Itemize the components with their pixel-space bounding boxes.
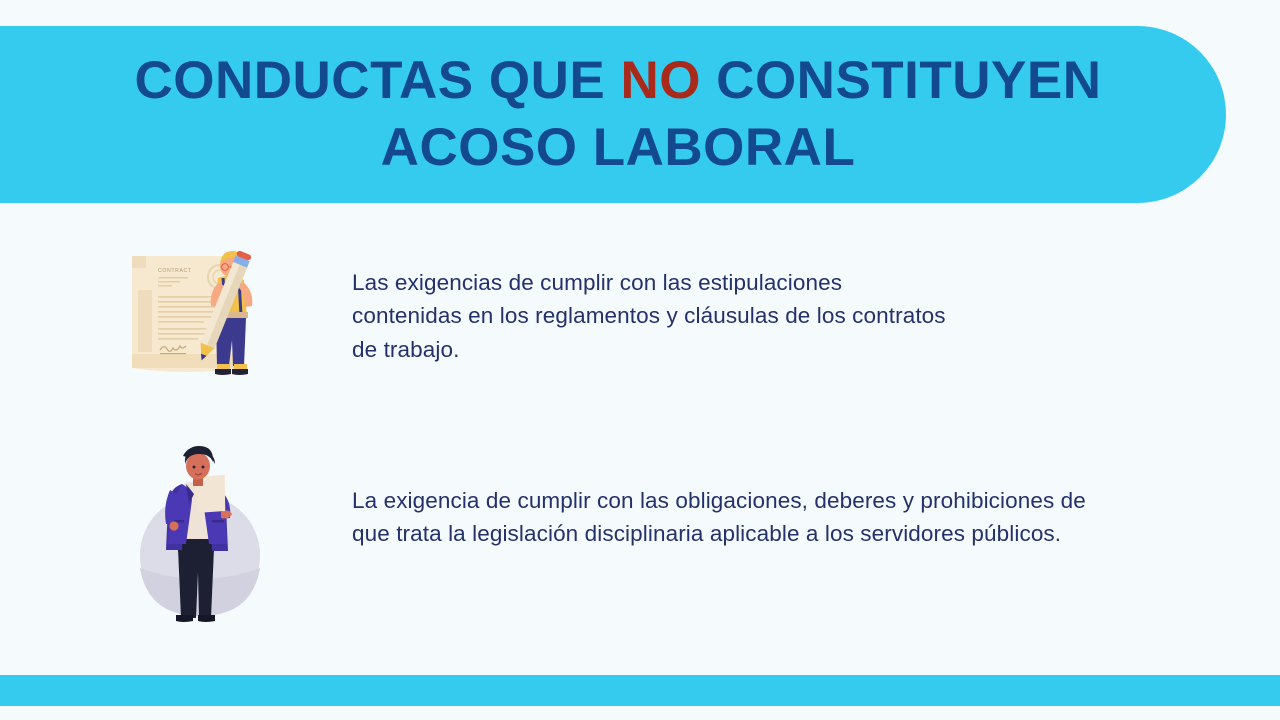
list-item-text: Las exigencias de cumplir con las estipu…: [352, 266, 952, 366]
contract-signing-illustration-svg: CONTRACT: [120, 246, 280, 386]
page-title-accent-no: NO: [620, 51, 701, 110]
list-item-text: La exigencia de cumplir con las obligaci…: [352, 484, 1092, 551]
list-item: CONTRACT: [120, 246, 952, 388]
public-servant-reading-document-illustration: [120, 440, 280, 630]
contract-heading-label: CONTRACT: [158, 268, 192, 274]
list-item: La exigencia de cumplir con las obligaci…: [120, 440, 1092, 630]
contract-signing-illustration: CONTRACT: [120, 246, 280, 386]
footer-bar: [0, 675, 1280, 706]
header-banner: CONDUCTAS QUE NO CONSTITUYEN ACOSO LABOR…: [0, 26, 1226, 203]
slide: CONDUCTAS QUE NO CONSTITUYEN ACOSO LABOR…: [0, 0, 1280, 720]
page-title: CONDUCTAS QUE NO CONSTITUYEN ACOSO LABOR…: [43, 48, 1183, 182]
page-title-part-1: CONDUCTAS QUE: [134, 51, 620, 110]
public-servant-reading-document-illustration-svg: [120, 440, 280, 630]
